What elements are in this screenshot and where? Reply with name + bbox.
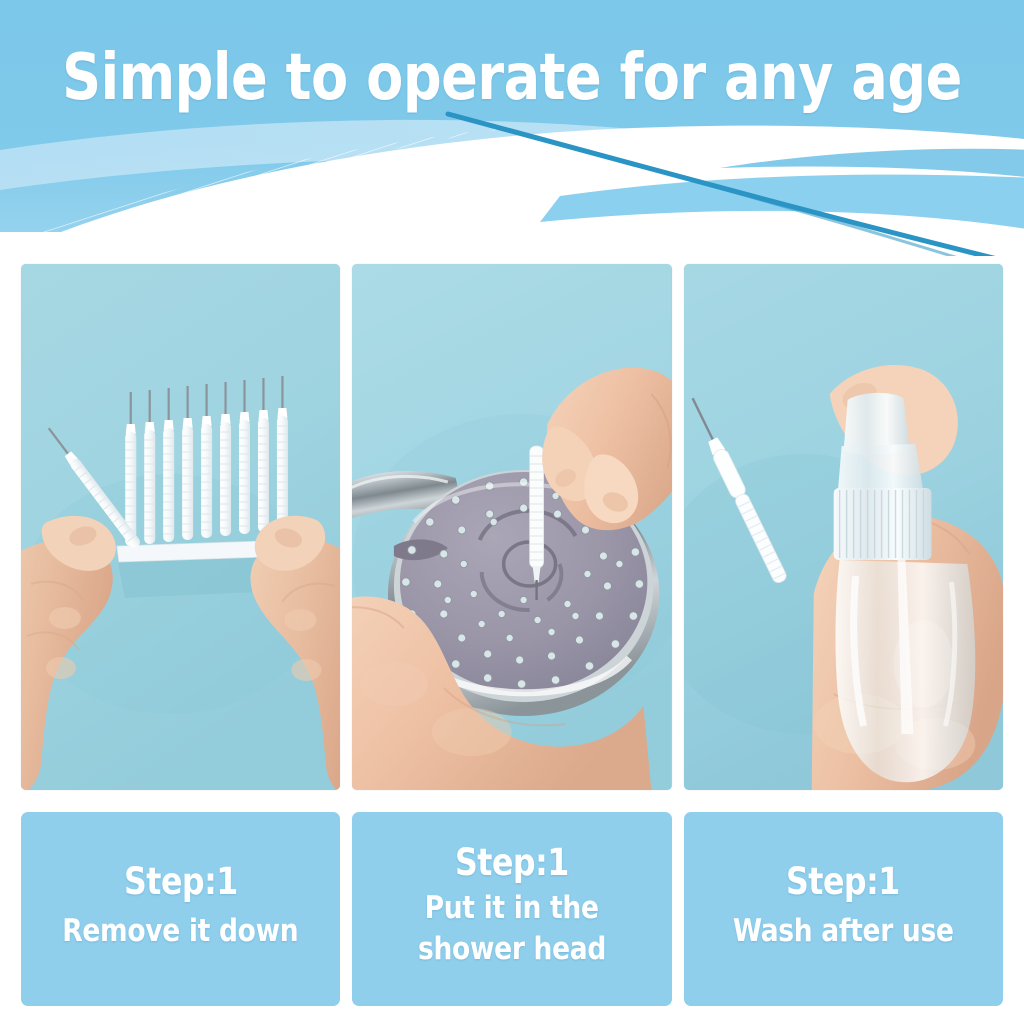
caption-desc-line: Wash after use bbox=[733, 911, 954, 952]
caption-desc-line: shower head bbox=[418, 929, 606, 970]
caption-row: Step:1 Remove it down Step:1 Put it in t… bbox=[21, 812, 1003, 1006]
caption-desc-line: Put it in the bbox=[425, 888, 599, 929]
header-banner: Simple to operate for any age bbox=[0, 0, 1024, 256]
photo-panel-insert-brush-into-shower-head bbox=[352, 264, 671, 790]
page-title: Simple to operate for any age bbox=[31, 42, 994, 114]
caption-step-3: Step:1 Wash after use bbox=[684, 812, 1003, 1006]
illustration-wash-brush bbox=[684, 264, 1003, 790]
caption-step-1: Step:1 Remove it down bbox=[21, 812, 340, 1006]
photo-panel-remove-brush-from-strip bbox=[21, 264, 340, 790]
caption-step-label: Step:1 bbox=[455, 840, 569, 886]
header-wave-graphic bbox=[0, 0, 1024, 256]
photo-panel-wash-brush-with-spray-bottle bbox=[684, 264, 1003, 790]
caption-step-label: Step:1 bbox=[124, 859, 238, 905]
caption-step-2: Step:1 Put it in the shower head bbox=[352, 812, 671, 1006]
photo-row bbox=[21, 264, 1003, 790]
illustration-remove-brush bbox=[21, 264, 340, 790]
caption-step-label: Step:1 bbox=[786, 859, 900, 905]
caption-desc-line: Remove it down bbox=[63, 911, 299, 952]
illustration-insert-brush bbox=[352, 264, 671, 790]
